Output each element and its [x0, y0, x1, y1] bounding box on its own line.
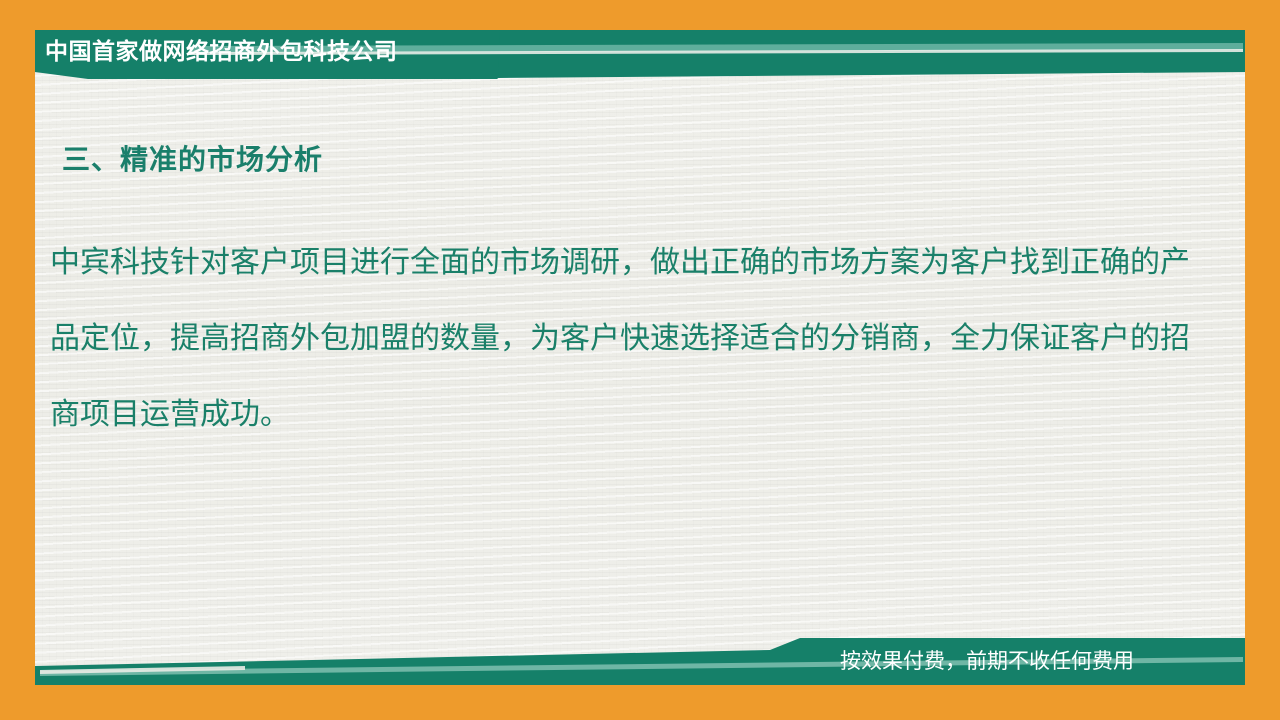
header-banner-text: 中国首家做网络招商外包科技公司: [45, 34, 475, 68]
slide-canvas: 中国首家做网络招商外包科技公司 三、精准的市场分析 中宾科技针对客户项目进行全面…: [0, 0, 1280, 720]
body-text-block: 中宾科技针对客户项目进行全面的市场调研，做出正确的市场方案为客户找到正确的产品定…: [50, 225, 1190, 453]
footer-slogan-text: 按效果付费，前期不收任何费用: [840, 645, 1220, 679]
body-paragraph: 中宾科技针对客户项目进行全面的市场调研，做出正确的市场方案为客户找到正确的产品定…: [50, 225, 1190, 453]
section-heading: 三、精准的市场分析: [62, 138, 323, 178]
